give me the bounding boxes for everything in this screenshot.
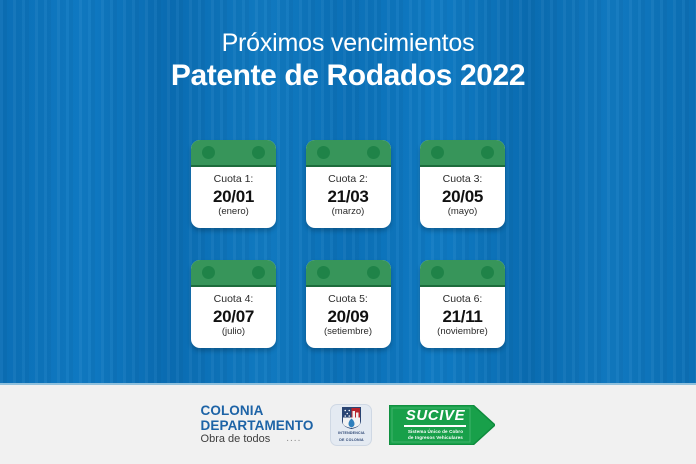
intendencia-de-colonia-logo: INTENDENCIA DE COLONIA <box>330 404 372 446</box>
calendar-header <box>191 260 276 287</box>
calendar-ring-icon <box>481 146 494 159</box>
intendencia-caption-line2: DE COLONIA <box>339 438 364 442</box>
sucive-logo: SUCIVE Sistema Único de Cobro de Ingreso… <box>389 405 495 445</box>
coat-of-arms-icon <box>342 407 361 429</box>
headline-title: Patente de Rodados 2022 <box>0 60 696 92</box>
installment-date: 21/03 <box>327 187 368 207</box>
headline-subtitle: Próximos vencimientos <box>0 30 696 56</box>
calendar-ring-icon <box>202 266 215 279</box>
installment-date: 20/09 <box>327 307 368 327</box>
calendar-ring-icon <box>367 266 380 279</box>
installment-row-2: Cuota 4: 20/07 (julio) Cuota 5: 20/09 (s… <box>191 260 505 348</box>
installment-month: (mayo) <box>448 207 478 217</box>
calendar-ring-icon <box>317 266 330 279</box>
calendar-body: Cuota 3: 20/05 (mayo) <box>420 167 505 228</box>
colonia-departamento-logo: COLONIA DEPARTAMENTO Obra de todos .... <box>201 404 314 445</box>
colonia-logo-tagline-row: Obra de todos .... <box>201 434 314 445</box>
installment-card[interactable]: Cuota 3: 20/05 (mayo) <box>420 140 505 228</box>
calendar-ring-icon <box>481 266 494 279</box>
installment-month: (julio) <box>222 327 245 337</box>
installment-date: 20/07 <box>213 307 254 327</box>
calendar-header <box>420 140 505 167</box>
colonia-logo-dots: .... <box>286 434 301 445</box>
installment-date: 20/01 <box>213 187 254 207</box>
installment-label: Cuota 2: <box>328 174 368 186</box>
calendar-body: Cuota 2: 21/03 (marzo) <box>306 167 391 228</box>
colonia-logo-line1: COLONIA <box>201 404 314 418</box>
calendar-header <box>306 260 391 287</box>
colonia-logo-line2: DEPARTAMENTO <box>201 419 314 433</box>
intendencia-caption-line1: INTENDENCIA <box>338 431 365 435</box>
calendar-ring-icon <box>252 266 265 279</box>
installment-card[interactable]: Cuota 1: 20/01 (enero) <box>191 140 276 228</box>
calendar-ring-icon <box>431 146 444 159</box>
installment-row-1: Cuota 1: 20/01 (enero) Cuota 2: 21/03 (m… <box>191 140 505 228</box>
installment-card[interactable]: Cuota 2: 21/03 (marzo) <box>306 140 391 228</box>
calendar-ring-icon <box>431 266 444 279</box>
calendar-ring-icon <box>317 146 330 159</box>
installment-card[interactable]: Cuota 5: 20/09 (setiembre) <box>306 260 391 348</box>
installment-label: Cuota 6: <box>443 294 483 306</box>
installment-month: (noviembre) <box>437 327 488 337</box>
colonia-logo-tagline: Obra de todos <box>201 434 271 445</box>
installment-card[interactable]: Cuota 4: 20/07 (julio) <box>191 260 276 348</box>
installment-month: (enero) <box>218 207 249 217</box>
installment-card[interactable]: Cuota 6: 21/11 (noviembre) <box>420 260 505 348</box>
installment-label: Cuota 4: <box>214 294 254 306</box>
installment-card-grid: Cuota 1: 20/01 (enero) Cuota 2: 21/03 (m… <box>191 140 505 348</box>
installment-month: (setiembre) <box>324 327 372 337</box>
footer-bar: COLONIA DEPARTAMENTO Obra de todos .... <box>0 385 696 464</box>
poster-canvas: Próximos vencimientos Patente de Rodados… <box>0 0 696 464</box>
calendar-ring-icon <box>202 146 215 159</box>
installment-label: Cuota 1: <box>214 174 254 186</box>
installment-month: (marzo) <box>332 207 365 217</box>
calendar-ring-icon <box>252 146 265 159</box>
sucive-arrow-shape <box>389 405 495 445</box>
installment-label: Cuota 5: <box>328 294 368 306</box>
installment-label: Cuota 3: <box>443 174 483 186</box>
calendar-body: Cuota 6: 21/11 (noviembre) <box>420 287 505 348</box>
installment-date: 20/05 <box>442 187 483 207</box>
calendar-header <box>306 140 391 167</box>
installment-date: 21/11 <box>442 307 482 327</box>
calendar-ring-icon <box>367 146 380 159</box>
footer-logo-strip: COLONIA DEPARTAMENTO Obra de todos .... <box>0 385 696 464</box>
calendar-body: Cuota 4: 20/07 (julio) <box>191 287 276 348</box>
calendar-header <box>191 140 276 167</box>
calendar-header <box>420 260 505 287</box>
calendar-body: Cuota 5: 20/09 (setiembre) <box>306 287 391 348</box>
calendar-body: Cuota 1: 20/01 (enero) <box>191 167 276 228</box>
page-title: Próximos vencimientos Patente de Rodados… <box>0 30 696 92</box>
